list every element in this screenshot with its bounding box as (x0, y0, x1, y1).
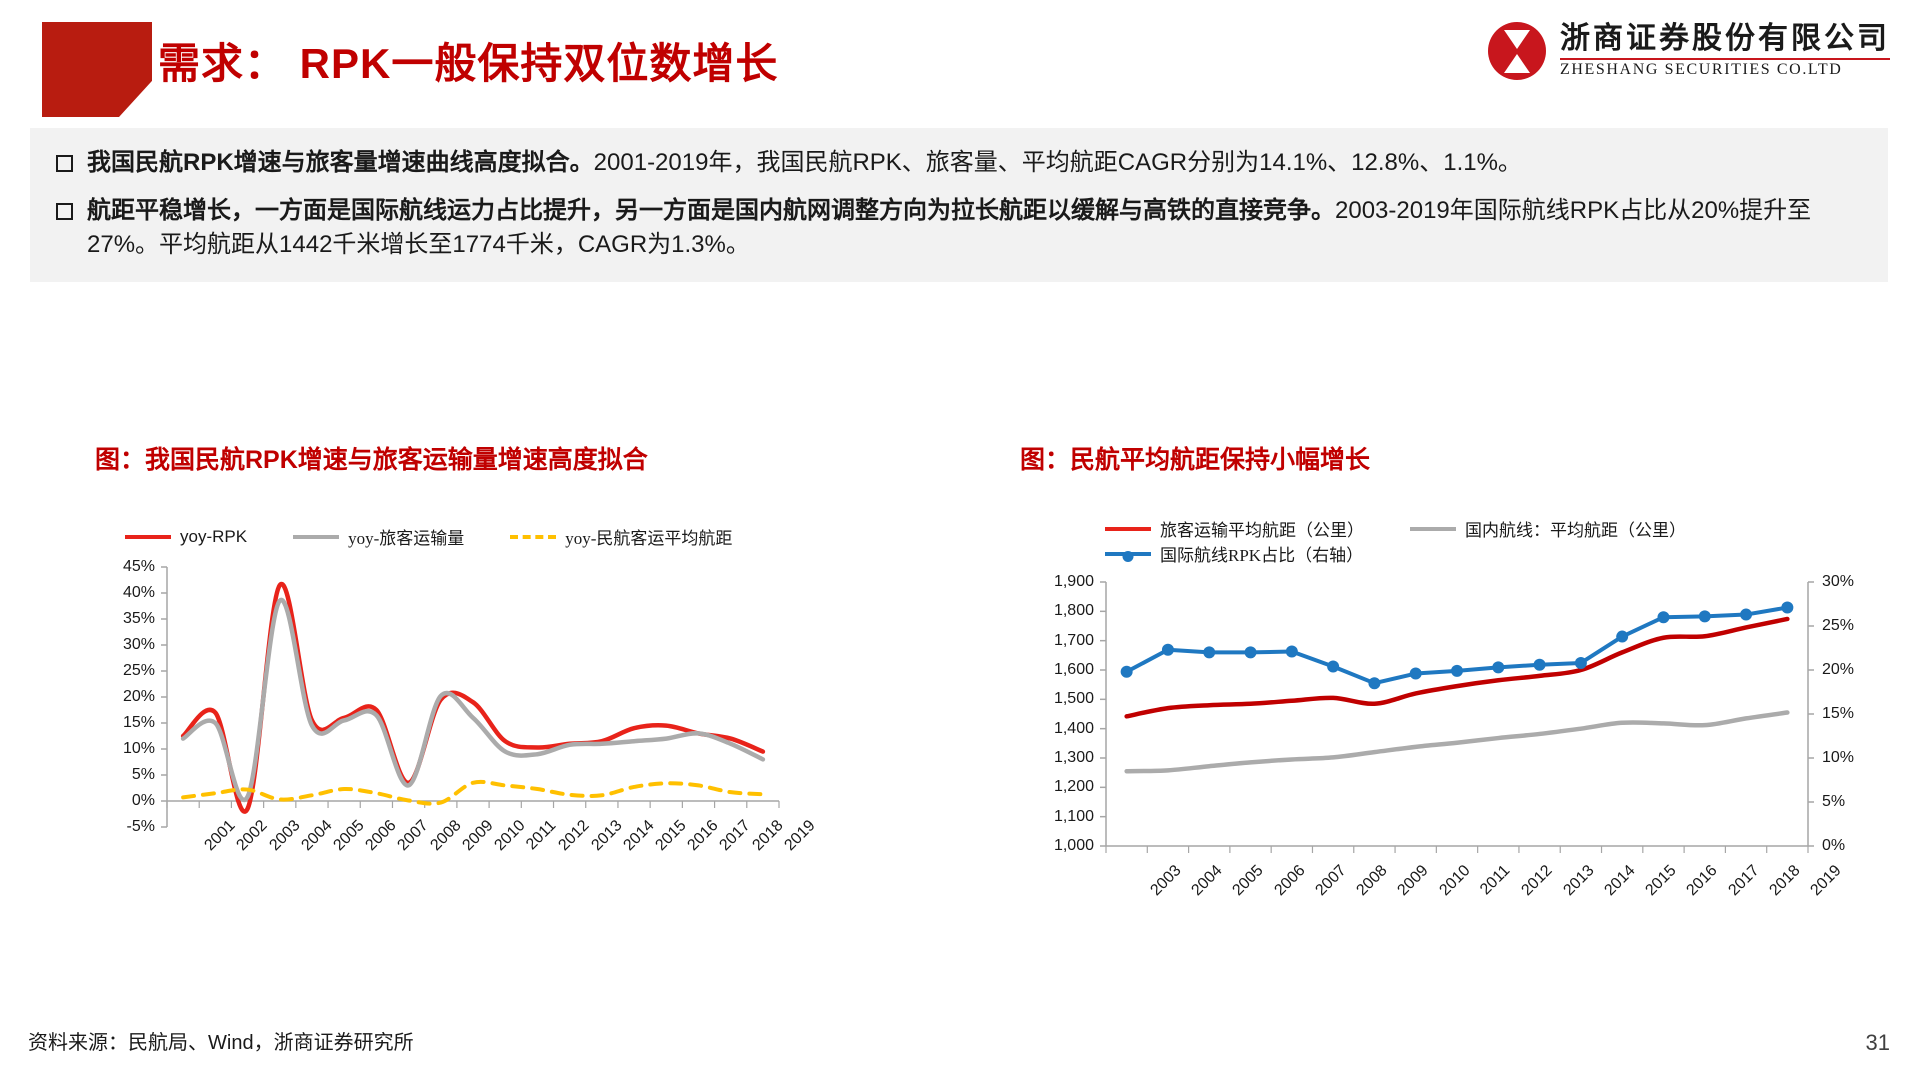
y-axis-tick-label: 1,400 (1054, 720, 1094, 738)
bullet-item: 航距平稳增长，一方面是国际航线运力占比提升，另一方面是国内航网调整方向为拉长航距… (56, 194, 1862, 262)
series-marker (1162, 644, 1174, 656)
legend-swatch-icon (1105, 552, 1151, 556)
y-axis-tick-label: -5% (127, 818, 155, 836)
bullet-strong-text: 航距平稳增长，一方面是国际航线运力占比提升，另一方面是国内航网调整方向为拉长航距… (87, 197, 1335, 224)
y2-axis-tick-label: 30% (1822, 573, 1854, 591)
page-title: 需求： RPK一般保持双位数增长 (158, 30, 778, 91)
legend-item: 国际航线RPK占比（右轴） (1105, 541, 1759, 566)
series-marker (1534, 659, 1546, 671)
logo-company-name-en: ZHESHANG SECURITIES CO.LTD (1560, 62, 1890, 79)
company-logo: 浙商证券股份有限公司 ZHESHANG SECURITIES CO.LTD (1488, 22, 1890, 80)
figure-rpk-growth: 图：我国民航RPK增速与旅客运输量增速高度拟合 yoy-RPKyoy-旅客运输量… (95, 440, 855, 917)
series-marker (1203, 646, 1215, 658)
y-axis-tick-label: 1,900 (1054, 573, 1094, 591)
y2-axis-tick-label: 20% (1822, 661, 1854, 679)
legend-swatch-icon (1410, 527, 1456, 531)
legend-label: yoy-旅客运输量 (348, 524, 464, 549)
plot-area-left: -5%0%5%10%15%20%25%30%35%40%45%200120022… (95, 559, 785, 917)
series-line (1127, 713, 1788, 772)
y-axis-tick-label: 10% (123, 740, 155, 758)
series-marker (1781, 602, 1793, 614)
series-marker (1575, 657, 1587, 669)
series-marker (1740, 609, 1752, 621)
series-marker (1245, 646, 1257, 658)
series-marker (1451, 665, 1463, 677)
legend-swatch-icon (1105, 527, 1151, 531)
y2-axis-tick-label: 5% (1822, 793, 1845, 811)
zheshang-logo-icon (1488, 22, 1546, 80)
y-axis-tick-label: 15% (123, 714, 155, 732)
legend-right: 旅客运输平均航距（公里）国内航线：平均航距（公里）国际航线RPK占比（右轴） (1105, 516, 1805, 566)
legend-label: yoy-RPK (180, 527, 247, 547)
y-axis-tick-label: 25% (123, 662, 155, 680)
legend-item: yoy-旅客运输量 (293, 524, 464, 549)
x-axis-tick-label: 2019 (781, 817, 819, 855)
series-marker (1121, 666, 1133, 678)
figure-avg-distance: 图：民航平均航距保持小幅增长 旅客运输平均航距（公里）国内航线：平均航距（公里）… (1020, 440, 1880, 934)
y-axis-tick-label: 40% (123, 584, 155, 602)
y2-axis-tick-label: 0% (1822, 837, 1845, 855)
plot-area-right: 1,0001,1001,2001,3001,4001,5001,6001,700… (1020, 574, 1880, 934)
legend-label: yoy-民航客运平均航距 (565, 524, 732, 549)
logo-company-name-cn: 浙商证券股份有限公司 (1560, 23, 1890, 55)
legend-item: 旅客运输平均航距（公里） (1105, 516, 1364, 541)
y-axis-tick-label: 1,500 (1054, 690, 1094, 708)
y-axis-tick-label: 1,600 (1054, 661, 1094, 679)
bullet-strong-text: 我国民航RPK增速与旅客量增速曲线高度拟合。 (87, 149, 594, 176)
series-marker (1492, 661, 1504, 673)
slide-header: 需求： RPK一般保持双位数增长 浙商证券股份有限公司 ZHESHANG SEC… (0, 0, 1920, 135)
source-note: 资料来源：民航局、Wind，浙商证券研究所 (28, 1026, 414, 1055)
bullet-rest-text: 2001-2019年，我国民航RPK、旅客量、平均航距CAGR分别为14.1%、… (594, 149, 1522, 176)
y2-axis-tick-label: 25% (1822, 617, 1854, 635)
y-axis-tick-label: 1,000 (1054, 837, 1094, 855)
y-axis-tick-label: 35% (123, 610, 155, 628)
legend-item: yoy-民航客运平均航距 (510, 524, 732, 549)
figure-left-title: 图：我国民航RPK增速与旅客运输量增速高度拟合 (95, 440, 855, 476)
y-axis-tick-label: 5% (132, 766, 155, 784)
bullet-square-icon (56, 203, 73, 220)
series-marker (1286, 646, 1298, 658)
y-axis-tick-label: 45% (123, 558, 155, 576)
y-axis-tick-label: 1,300 (1054, 749, 1094, 767)
y-axis-tick-label: 20% (123, 688, 155, 706)
y-axis-tick-label: 1,200 (1054, 778, 1094, 796)
legend-swatch-icon (293, 535, 339, 539)
y2-axis-tick-label: 15% (1822, 705, 1854, 723)
series-marker (1699, 610, 1711, 622)
page-number: 31 (1866, 1030, 1890, 1056)
bullet-square-icon (56, 155, 73, 172)
series-marker (1410, 668, 1422, 680)
legend-item: 国内航线：平均航距（公里） (1410, 516, 1686, 541)
legend-label: 旅客运输平均航距（公里） (1160, 516, 1364, 541)
figure-right-title: 图：民航平均航距保持小幅增长 (1020, 440, 1880, 476)
y-axis-tick-label: 1,800 (1054, 602, 1094, 620)
series-marker (1368, 677, 1380, 689)
bullet-item: 我国民航RPK增速与旅客量增速曲线高度拟合。2001-2019年，我国民航RPK… (56, 146, 1862, 180)
series-marker (1616, 631, 1628, 643)
right-chart-svg (1020, 574, 1880, 874)
logo-divider (1560, 58, 1890, 60)
legend-left: yoy-RPKyoy-旅客运输量yoy-民航客运平均航距 (125, 524, 855, 549)
legend-item: yoy-RPK (125, 527, 247, 547)
series-line (183, 584, 763, 812)
legend-label: 国内航线：平均航距（公里） (1465, 516, 1686, 541)
series-marker (1327, 660, 1339, 672)
y-axis-tick-label: 1,700 (1054, 632, 1094, 650)
y-axis-tick-label: 0% (132, 792, 155, 810)
summary-panel: 我国民航RPK增速与旅客量增速曲线高度拟合。2001-2019年，我国民航RPK… (30, 128, 1888, 282)
legend-swatch-icon (125, 535, 171, 539)
legend-label: 国际航线RPK占比（右轴） (1160, 541, 1363, 566)
y2-axis-tick-label: 10% (1822, 749, 1854, 767)
y-axis-tick-label: 1,100 (1054, 808, 1094, 826)
header-accent-tab (42, 22, 152, 117)
y-axis-tick-label: 30% (123, 636, 155, 654)
series-marker (1657, 611, 1669, 623)
legend-swatch-icon (510, 535, 556, 539)
